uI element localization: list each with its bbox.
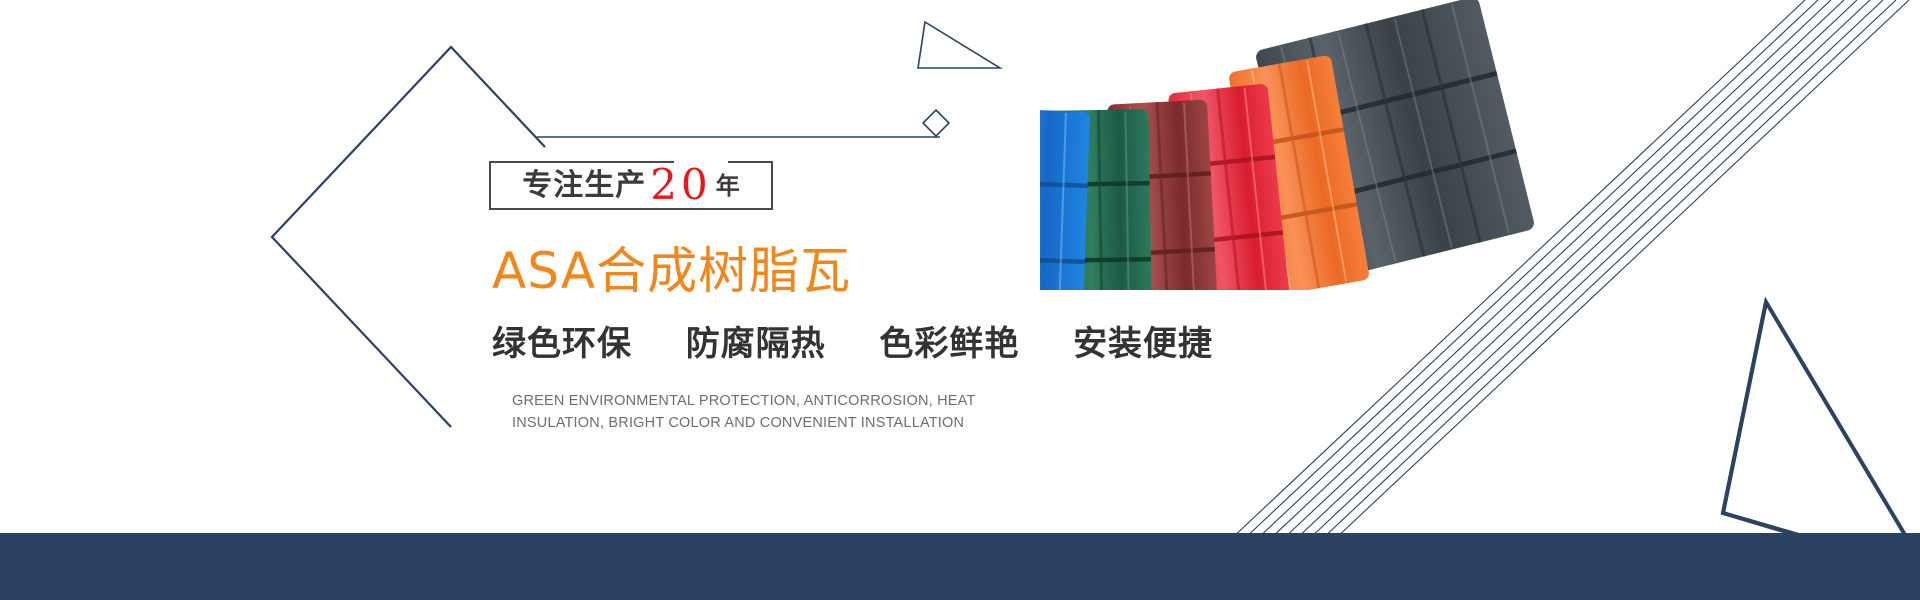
badge-label: 专注生产 — [522, 171, 646, 201]
years-badge: 专注生产 20 年 — [489, 161, 773, 210]
feature-item-3: 色彩鲜艳 — [879, 324, 1019, 364]
small-triangle-icon — [918, 22, 1000, 68]
feature-item-2: 防腐隔热 — [686, 324, 826, 364]
page-title: ASA合成树脂瓦 — [492, 246, 851, 296]
diamond-outline-shape — [272, 47, 940, 427]
badge-number: 20 — [650, 164, 711, 206]
feature-list: 绿色环保 防腐隔热 色彩鲜艳 安装便捷 — [492, 327, 1213, 361]
product-image-roof-tiles — [1040, 0, 1600, 290]
large-triangle-icon — [1723, 302, 1920, 572]
feature-item-4: 安装便捷 — [1073, 324, 1213, 364]
english-line-2: INSULATION, BRIGHT COLOR AND CONVENIENT … — [512, 412, 982, 434]
small-diamond-icon — [923, 110, 949, 136]
feature-item-1: 绿色环保 — [492, 324, 632, 364]
badge-notch-top — [674, 160, 728, 166]
english-line-1: GREEN ENVIRONMENTAL PROTECTION, ANTICORR… — [512, 390, 982, 412]
bottom-bar — [0, 533, 1920, 600]
promo-banner: 专注生产 20 年 ASA合成树脂瓦 绿色环保 防腐隔热 色彩鲜艳 安装便捷 G… — [0, 0, 1920, 600]
badge-unit: 年 — [716, 174, 740, 198]
decorative-shapes-layer — [0, 0, 1920, 600]
english-caption: GREEN ENVIRONMENTAL PROTECTION, ANTICORR… — [512, 390, 982, 435]
